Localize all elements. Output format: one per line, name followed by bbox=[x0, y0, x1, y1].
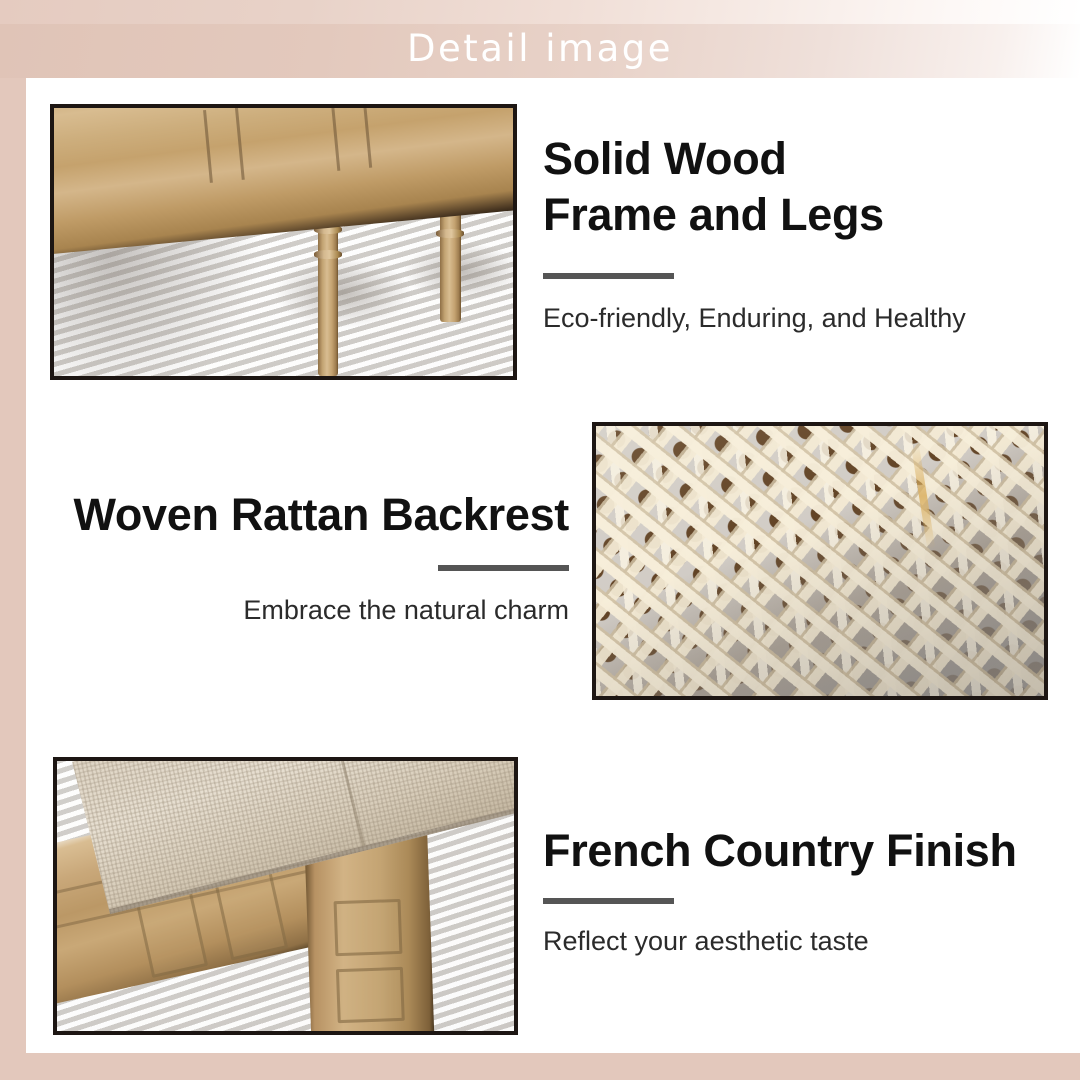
feature-divider-woven-rattan bbox=[438, 565, 569, 571]
feature-heading-woven-rattan: Woven Rattan Backrest bbox=[20, 487, 569, 543]
feature-text-solid-wood: Solid Wood Frame and Legs Eco-friendly, … bbox=[543, 131, 1055, 335]
feature-divider-french-country bbox=[543, 898, 674, 904]
header-banner: Detail image bbox=[0, 0, 1080, 78]
feature-text-woven-rattan: Woven Rattan Backrest Embrace the natura… bbox=[20, 487, 569, 627]
seat-corner-post bbox=[305, 835, 436, 1031]
header-gradient-top-strip bbox=[0, 0, 1080, 24]
cushion-seam bbox=[326, 761, 366, 845]
feature-heading-french-country: French Country Finish bbox=[543, 823, 1055, 879]
rattan-light-shading bbox=[596, 426, 1044, 696]
feature-subtitle-french-country: Reflect your aesthetic taste bbox=[543, 924, 1055, 958]
product-detail-page: Detail image bbox=[0, 0, 1080, 1080]
feature-subtitle-solid-wood: Eco-friendly, Enduring, and Healthy bbox=[543, 301, 1055, 335]
feature-photo-solid-wood bbox=[50, 104, 517, 380]
feature-text-french-country: French Country Finish Reflect your aesth… bbox=[543, 823, 1055, 958]
page-title: Detail image bbox=[0, 24, 1080, 78]
feature-photo-woven-rattan bbox=[592, 422, 1048, 700]
feature-photo-french-country bbox=[53, 757, 518, 1035]
feature-divider-solid-wood bbox=[543, 273, 674, 279]
feature-subtitle-woven-rattan: Embrace the natural charm bbox=[20, 593, 569, 627]
leg-shadow-center bbox=[274, 258, 412, 328]
feature-heading-solid-wood: Solid Wood Frame and Legs bbox=[543, 131, 1055, 243]
